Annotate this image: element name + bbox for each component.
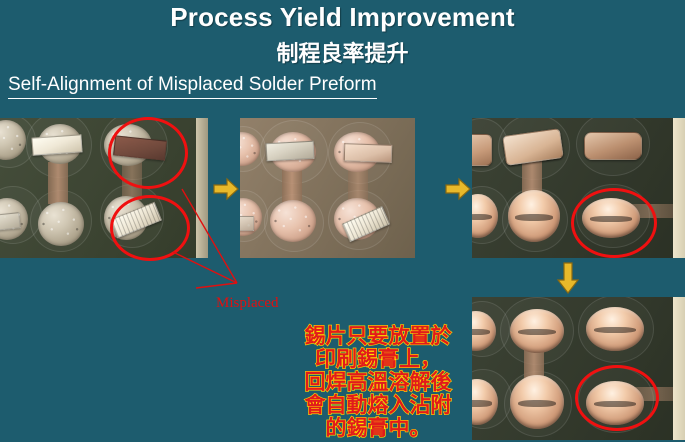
reflowed-joint [586, 307, 644, 351]
board-edge [673, 297, 685, 440]
highlight-circle-panel-1-bottom [110, 195, 190, 261]
board-edge [196, 118, 208, 258]
note-line-3: 回焊高溫溶解後 [278, 371, 478, 394]
solder-preform-aligned [31, 134, 82, 155]
page-title: Process Yield Improvement [0, 2, 685, 33]
molten-solder [584, 132, 642, 160]
chinese-explanation-note: 錫片只要放置於 印刷錫膏上， 回焊高溫溶解後 會自動熔入沾附 的錫膏中。 [278, 325, 478, 440]
reflowed-joint [510, 375, 564, 429]
solder-paste-pad [270, 200, 316, 242]
reflowed-joint [510, 309, 564, 353]
page-title-chinese: 制程良率提升 [0, 36, 685, 68]
highlight-circle-panel-3 [571, 188, 657, 258]
solder-preform-misplaced [344, 143, 393, 163]
solder-preform-aligned [266, 141, 315, 161]
board-edge [673, 118, 685, 258]
page-subtitle: Self-Alignment of Misplaced Solder Prefo… [8, 74, 377, 99]
photo-panel-4: 02M4556s 235°C [472, 297, 685, 440]
arrow-panel2-to-panel3 [445, 177, 471, 201]
note-line-4: 會自動熔入沾附 [278, 394, 478, 417]
solder-preform [240, 216, 254, 231]
slide-root: Process Yield Improvement 制程良率提升 Self-Al… [0, 0, 685, 442]
note-line-1: 錫片只要放置於 [278, 325, 478, 348]
highlight-circle-panel-4 [575, 365, 659, 431]
photo-panel-2: 01M5955s 188°C [240, 118, 415, 258]
panel-4-photo: 02M4556s 235°C [472, 297, 685, 440]
copper-trace [48, 162, 68, 204]
arrow-panel1-to-panel2 [213, 177, 239, 201]
solder-paste-pad [38, 202, 84, 246]
highlight-circle-panel-1-top [108, 117, 188, 189]
molten-solder [472, 134, 492, 166]
note-line-5: 的錫膏中。 [278, 417, 478, 440]
arrow-panel3-to-panel4 [556, 262, 580, 294]
panel-2-photo: 01M5955s 188°C [240, 118, 415, 258]
misplaced-callout-label: Misplaced [216, 295, 278, 312]
reflowed-joint [508, 190, 560, 242]
note-line-2: 印刷錫膏上， [278, 348, 478, 371]
